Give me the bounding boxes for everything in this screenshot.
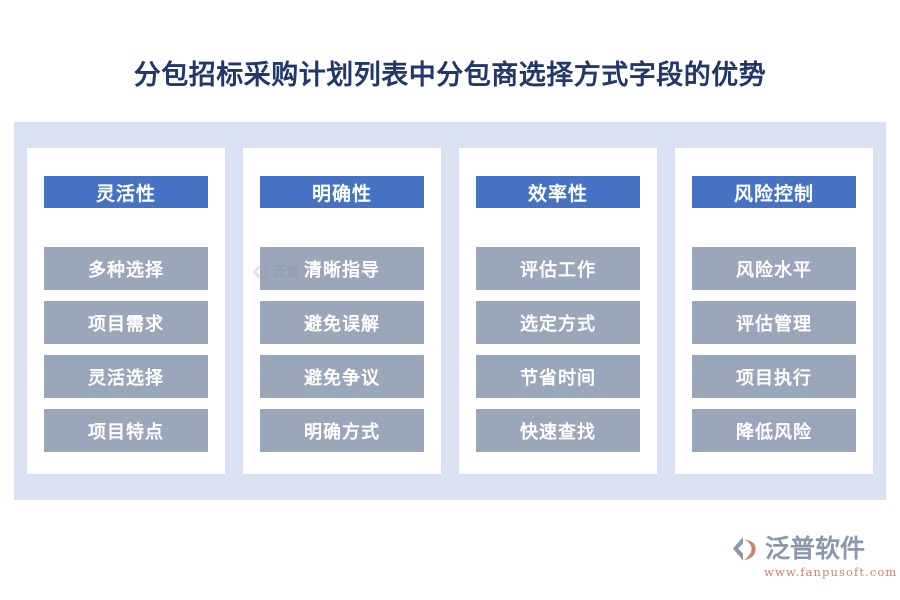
list-item: 降低风险 — [692, 409, 856, 452]
advantage-column-1: 灵活性 多种选择 项目需求 灵活选择 项目特点 — [27, 148, 225, 474]
list-item: 明确方式 — [260, 409, 424, 452]
brand-url: www.fanpusoft.com — [764, 566, 882, 579]
list-item: 避免误解 — [260, 301, 424, 344]
brand-name: 泛普软件 — [765, 535, 865, 563]
list-item: 项目特点 — [44, 409, 208, 452]
list-item: 评估管理 — [692, 301, 856, 344]
advantages-panel: 灵活性 多种选择 项目需求 灵活选择 项目特点 明确性 泛普 FANPU SOF… — [14, 122, 886, 500]
brand-logo: 泛普软件 www.fanpusoft.com — [730, 530, 882, 582]
list-item: 项目执行 — [692, 355, 856, 398]
column-header-3: 效率性 — [476, 176, 640, 208]
list-item: 选定方式 — [476, 301, 640, 344]
column-header-1: 灵活性 — [44, 176, 208, 208]
column-items-2: 清晰指导 避免误解 避免争议 明确方式 — [260, 247, 424, 452]
list-item: 避免争议 — [260, 355, 424, 398]
column-items-3: 评估工作 选定方式 节省时间 快速查找 — [476, 247, 640, 452]
list-item: 多种选择 — [44, 247, 208, 290]
list-item: 清晰指导 — [260, 247, 424, 290]
fanpu-logo-icon — [730, 534, 760, 564]
advantage-column-2: 明确性 泛普 FANPU SOFTWARE 清晰指导 避免误解 避免争议 明确方… — [243, 148, 441, 474]
page-title: 分包招标采购计划列表中分包商选择方式字段的优势 — [0, 56, 900, 96]
list-item: 节省时间 — [476, 355, 640, 398]
column-header-2: 明确性 — [260, 176, 424, 208]
column-items-1: 多种选择 项目需求 灵活选择 项目特点 — [44, 247, 208, 452]
column-items-4: 风险水平 评估管理 项目执行 降低风险 — [692, 247, 856, 452]
advantage-column-4: 风险控制 风险水平 评估管理 项目执行 降低风险 — [675, 148, 873, 474]
column-header-4: 风险控制 — [692, 176, 856, 208]
list-item: 快速查找 — [476, 409, 640, 452]
advantage-column-3: 效率性 评估工作 选定方式 节省时间 快速查找 — [459, 148, 657, 474]
list-item: 灵活选择 — [44, 355, 208, 398]
list-item: 评估工作 — [476, 247, 640, 290]
list-item: 风险水平 — [692, 247, 856, 290]
list-item: 项目需求 — [44, 301, 208, 344]
